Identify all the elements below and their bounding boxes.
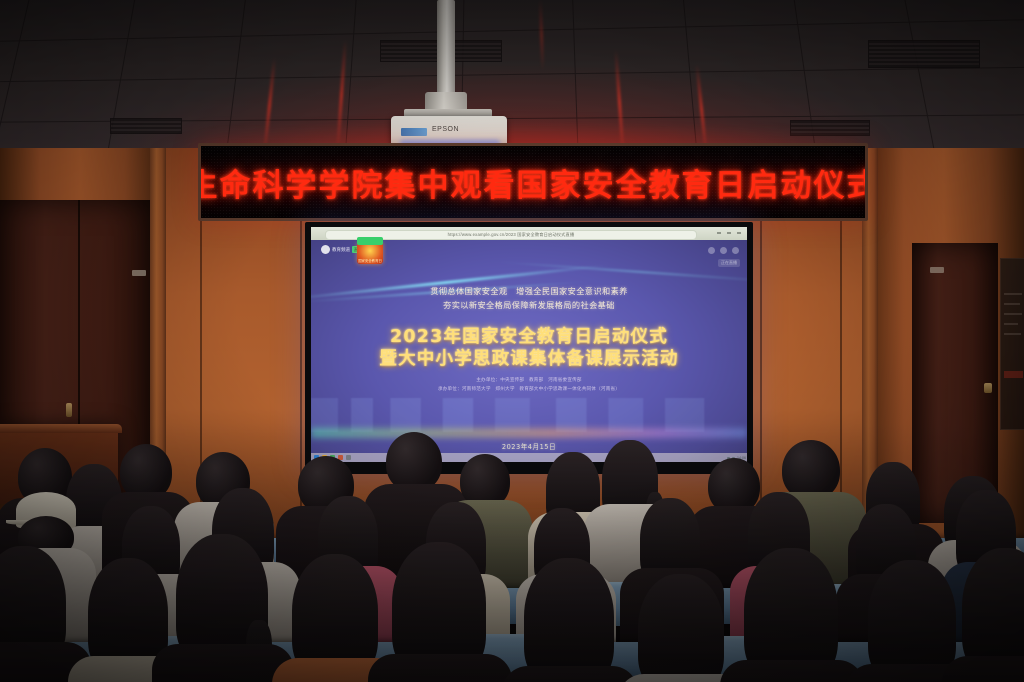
emblem-caption: 国家安全教育日 <box>358 258 382 263</box>
door-right-sign <box>930 267 944 273</box>
slide-organizer-line2: 承办单位：河南师范大学 郑州大学 教育部大中小学思政课一体化共同体（河南省） <box>311 386 747 392</box>
lecture-hall-photo: EPSON 生命科学学院集中观看国家安全教育日启动仪式 <box>0 0 1024 682</box>
ceiling-vent-right <box>868 40 980 68</box>
door-left-knob-icon[interactable] <box>66 403 72 417</box>
projector-mount-pole <box>437 0 455 100</box>
led-banner: 生命科学学院集中观看国家安全教育日启动仪式 <box>198 143 868 221</box>
projector-brand-label: EPSON <box>432 126 459 133</box>
slide-organizer-line1: 主办单位：中央宣传部 教育部 河南省委宣传部 <box>311 377 747 383</box>
window-close-button[interactable] <box>737 232 741 234</box>
video-control-dot-2[interactable] <box>720 247 727 254</box>
emblem-top-band <box>357 237 383 245</box>
projected-slide: https://www.example.gov.cn/2023 国家安全教育日启… <box>311 227 747 462</box>
video-control-dot-3[interactable] <box>732 247 739 254</box>
audience <box>0 430 1024 682</box>
slide-subtitle-line2: 夯实以新安全格局保障新发展格局的社会基础 <box>311 299 747 311</box>
door-right-knob-icon[interactable] <box>984 383 992 393</box>
video-window-controls[interactable] <box>708 247 739 254</box>
slide-title-line2: 暨大中小学思政课集体备课展示活动 <box>311 345 747 370</box>
window-maximize-button[interactable] <box>727 232 731 234</box>
slide-subtitle-line1: 贯彻总体国家安全观 增强全民国家安全意识和素养 <box>311 285 747 297</box>
projector-badge-icon <box>401 128 427 136</box>
browser-url-text: https://www.example.gov.cn/2023 国家安全教育日启… <box>448 232 575 238</box>
video-control-dot-1[interactable] <box>708 247 715 254</box>
led-banner-text: 生命科学学院集中观看国家安全教育日启动仪式 <box>198 160 868 205</box>
platform-logo-icon <box>321 245 330 254</box>
window-minimize-button[interactable] <box>717 232 721 234</box>
platform-label: 教育频道 <box>332 247 350 253</box>
event-emblem-icon: 国家安全教育日 <box>357 242 383 264</box>
live-watermark: 正在直播 <box>718 259 740 267</box>
ceiling <box>0 0 1024 152</box>
wall-poster <box>1000 258 1024 430</box>
slide-skyline-graphic <box>311 398 747 432</box>
door-left-sign <box>132 270 146 276</box>
